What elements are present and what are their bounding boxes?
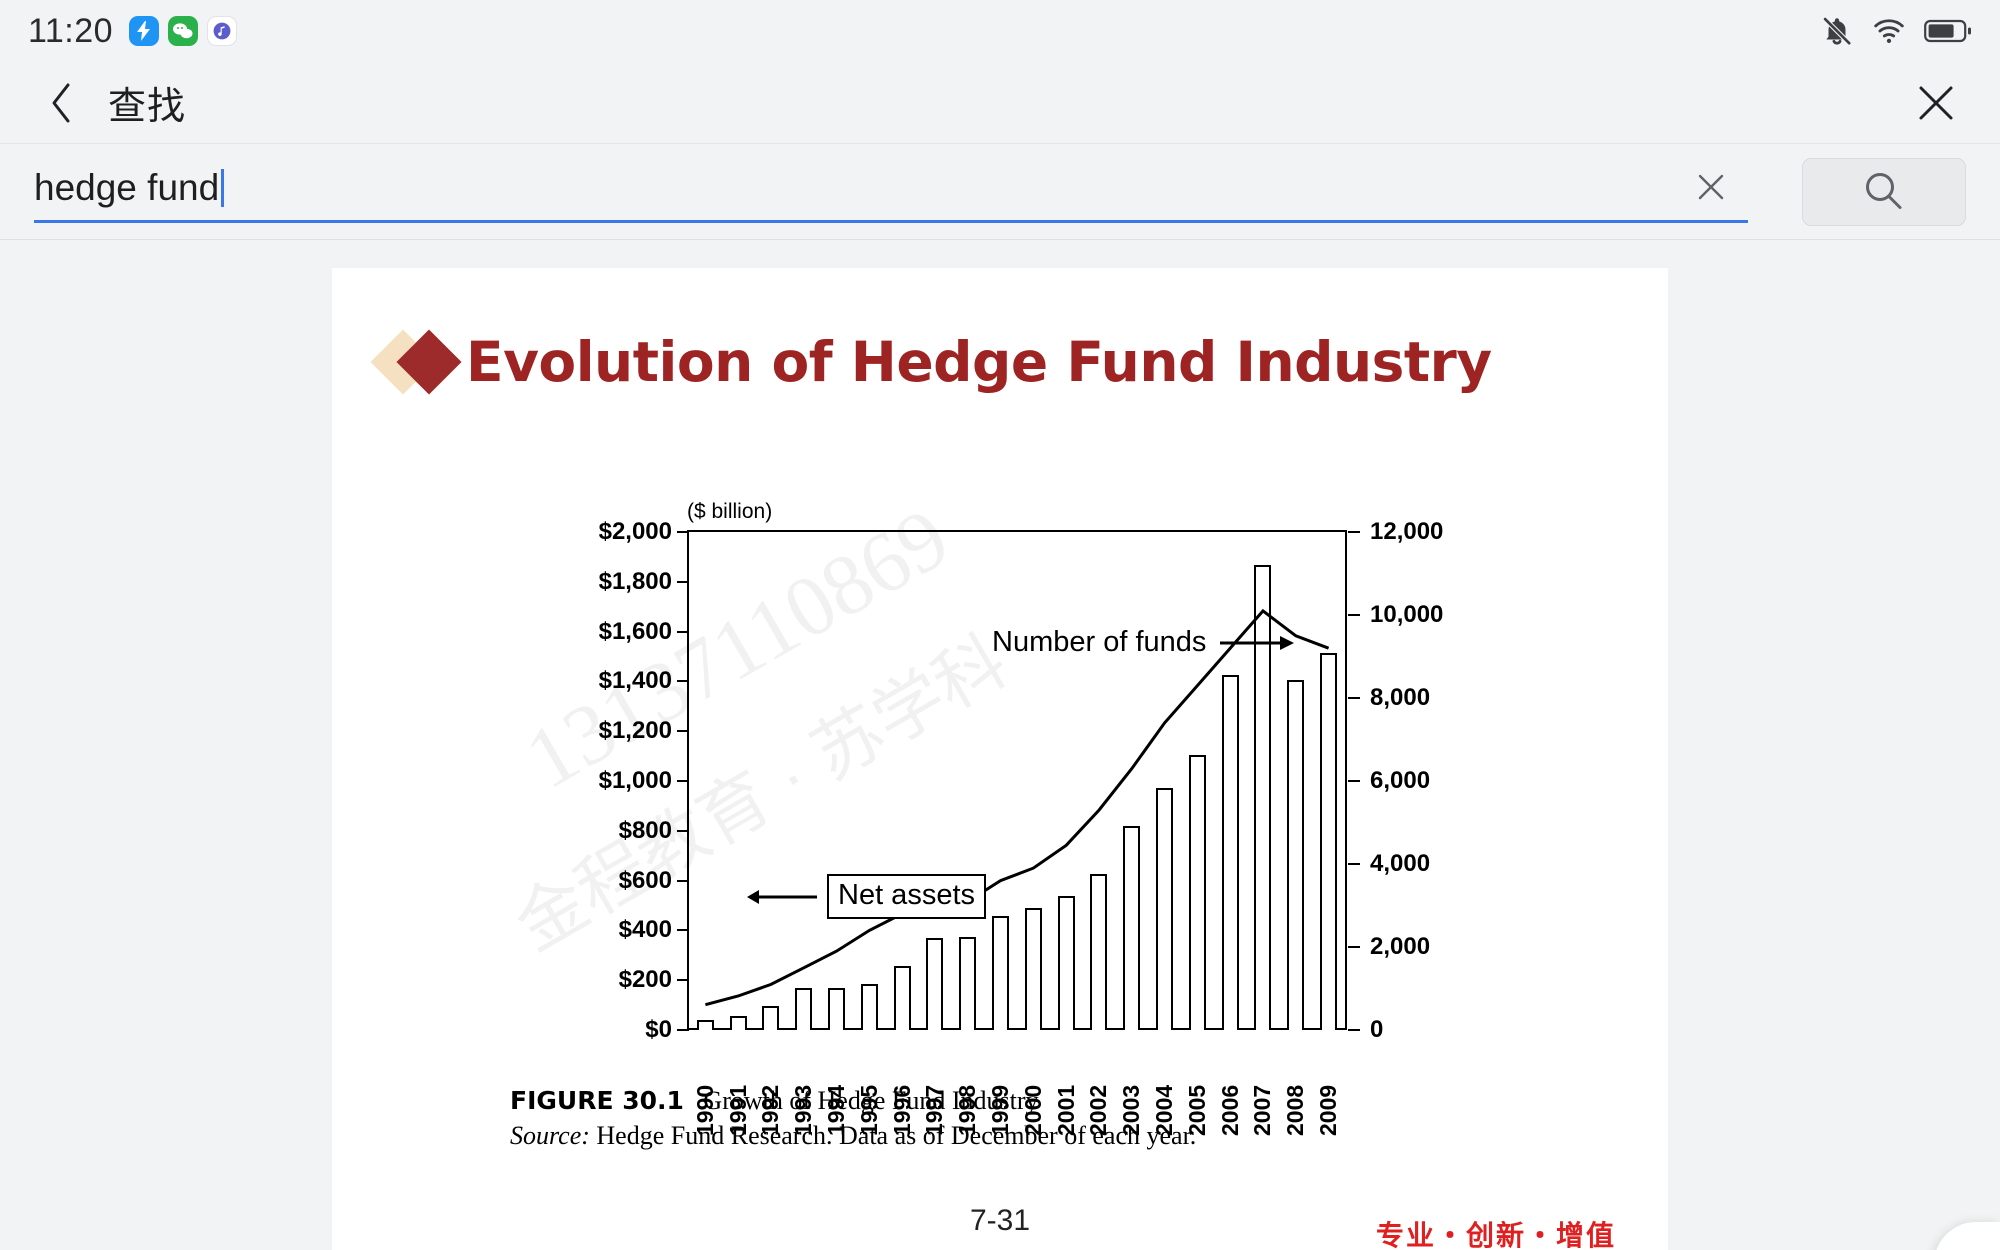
chart-bar-cell [820, 532, 853, 1030]
left-axis-tick-mark [677, 631, 689, 633]
arrow-right-icon [1220, 633, 1294, 653]
left-axis-tick-mark [677, 730, 689, 732]
slide-title: Evolution of Hedge Fund Industry [466, 330, 1492, 394]
chart-bar-cell [1214, 532, 1247, 1030]
chart-bar [1222, 675, 1239, 1030]
right-axis-tick-mark [1348, 863, 1360, 865]
chart-bar-cell [787, 532, 820, 1030]
figure-source-text: Hedge Fund Research. Data as of December… [590, 1121, 1196, 1150]
annotation-number-of-funds: Number of funds [992, 626, 1294, 659]
wifi-icon [1872, 14, 1906, 48]
flash-app-icon [129, 16, 159, 46]
left-axis-tick-mark [677, 531, 689, 533]
chart-bar-cell [1312, 532, 1345, 1030]
right-axis-tick-mark [1348, 780, 1360, 782]
left-axis-tick-label: $400 [482, 916, 672, 944]
bell-muted-icon [1820, 14, 1854, 48]
chart-bar-cell [1115, 532, 1148, 1030]
right-axis-tick-mark [1348, 1029, 1360, 1031]
left-axis-tick-label: $0 [482, 1016, 672, 1044]
x-axis-tick-label: 2008 [1282, 1036, 1309, 1136]
chart-bar [992, 916, 1009, 1030]
left-axis-tick-label: $1,400 [482, 667, 672, 695]
left-axis-tick-label: $600 [482, 867, 672, 895]
chart-bar [762, 1006, 779, 1030]
chart-bar [894, 966, 911, 1030]
right-axis-tick-label: 10,000 [1370, 601, 1443, 629]
left-axis-tick-label: $2,000 [482, 518, 672, 546]
chart-bar [1058, 896, 1075, 1030]
x-axis-tick-label: 2007 [1249, 1036, 1276, 1136]
chart-bar-cell [1083, 532, 1116, 1030]
chart-bar-cell [853, 532, 886, 1030]
music-app-icon [207, 16, 237, 46]
annotation-number-of-funds-label: Number of funds [992, 626, 1206, 659]
battery-icon [1924, 17, 1972, 45]
left-axis-tick-mark [677, 880, 689, 882]
chart-bar [1156, 788, 1173, 1030]
left-axis-tick-mark [677, 1029, 689, 1031]
status-app-icons [129, 16, 237, 46]
chart-bar [1025, 908, 1042, 1030]
right-axis-tick-mark [1348, 614, 1360, 616]
left-axis-tick-label: $1,000 [482, 767, 672, 795]
search-input[interactable]: hedge fund [34, 161, 1748, 223]
chart-unit-label: ($ billion) [687, 500, 772, 524]
search-bar: hedge fund [0, 144, 2000, 240]
chart-bar-cell [1148, 532, 1181, 1030]
diamond-bullet-icon [380, 331, 466, 393]
slide-page: Evolution of Hedge Fund Industry 1313711… [332, 268, 1668, 1250]
right-axis-tick-mark [1348, 531, 1360, 533]
app-header: 查找 [0, 62, 2000, 144]
chart-bar-cell [919, 532, 952, 1030]
right-axis-tick-label: 2,000 [1370, 933, 1430, 961]
right-axis-tick-label: 0 [1370, 1016, 1383, 1044]
close-icon[interactable] [1906, 73, 1966, 133]
left-axis-tick-label: $1,600 [482, 618, 672, 646]
chart-bar-cell [1247, 532, 1280, 1030]
arrow-left-icon [747, 887, 817, 907]
annotation-net-assets-label: Net assets [827, 874, 986, 919]
chart-bar [861, 984, 878, 1030]
chart-bar-cell [1279, 532, 1312, 1030]
left-axis-tick-label: $200 [482, 966, 672, 994]
right-axis-tick-mark [1348, 946, 1360, 948]
left-axis-tick-mark [677, 680, 689, 682]
right-axis-tick-label: 8,000 [1370, 684, 1430, 712]
chart-bar-cell [689, 532, 722, 1030]
x-axis-tick-cell: 2008 [1279, 1036, 1312, 1136]
left-axis-tick-mark [677, 581, 689, 583]
chart-bar-cell [755, 532, 788, 1030]
left-axis-tick-label: $1,800 [482, 568, 672, 596]
chart-bar-cell [984, 532, 1017, 1030]
chart-bar [926, 938, 943, 1030]
chart-bar-cell [1050, 532, 1083, 1030]
chart-bar [1189, 755, 1206, 1030]
left-axis-tick-mark [677, 979, 689, 981]
chart-bars [689, 532, 1345, 1030]
left-axis-tick-label: $1,200 [482, 717, 672, 745]
right-axis-tick-label: 12,000 [1370, 518, 1443, 546]
chart-bar [795, 988, 812, 1030]
chart-bar [959, 937, 976, 1030]
chart-bar [828, 988, 845, 1030]
text-caret [221, 169, 224, 207]
chart-bar-cell [951, 532, 984, 1030]
slide-slogan: 专业・创新・增值 [1376, 1214, 1616, 1250]
search-button[interactable] [1802, 158, 1966, 226]
figure-label: FIGURE 30.1 [510, 1086, 684, 1115]
figure-title: Growth of Hedge Fund Industry [703, 1086, 1038, 1115]
slide-title-row: Evolution of Hedge Fund Industry [332, 268, 1668, 394]
left-axis-tick-mark [677, 780, 689, 782]
back-button[interactable] [34, 76, 88, 130]
chart-bar [1320, 653, 1337, 1030]
chart-bar [1090, 874, 1107, 1030]
page-title: 查找 [108, 75, 186, 130]
status-bar: 11:20 [0, 0, 2000, 62]
clear-search-icon[interactable] [1688, 164, 1734, 210]
chart-bar [730, 1016, 747, 1030]
figure-caption: FIGURE 30.1 Growth of Hedge Fund Industr… [510, 1086, 1196, 1151]
x-axis-tick-cell: 2009 [1312, 1036, 1345, 1136]
figure-chart: ($ billion) $0$200$400$600$800$1,000$1,2… [482, 496, 1542, 1056]
x-axis-tick-label: 2006 [1217, 1036, 1244, 1136]
wechat-app-icon [168, 16, 198, 46]
status-clock: 11:20 [28, 12, 113, 51]
status-system-icons [1820, 14, 1972, 48]
right-axis-tick-label: 4,000 [1370, 850, 1430, 878]
left-axis-tick-mark [677, 830, 689, 832]
x-axis-tick-cell: 2006 [1214, 1036, 1247, 1136]
search-input-value: hedge fund [34, 169, 219, 212]
document-viewer[interactable]: Evolution of Hedge Fund Industry 1313711… [0, 240, 2000, 1250]
chart-bar [697, 1020, 714, 1030]
chart-bar-cell [1017, 532, 1050, 1030]
chart-bar-cell [722, 532, 755, 1030]
chart-bar-cell [886, 532, 919, 1030]
x-axis-tick-cell: 2007 [1247, 1036, 1280, 1136]
right-axis-tick-mark [1348, 697, 1360, 699]
right-axis-tick-label: 6,000 [1370, 767, 1430, 795]
chart-bar [1287, 680, 1304, 1030]
figure-source-label: Source: [510, 1121, 590, 1150]
chart-bar [1123, 826, 1140, 1030]
menu-button[interactable] [1934, 1222, 2000, 1250]
x-axis-tick-label: 2009 [1315, 1036, 1342, 1136]
chart-bar-cell [1181, 532, 1214, 1030]
annotation-net-assets: Net assets [747, 874, 986, 919]
left-axis-tick-label: $800 [482, 817, 672, 845]
left-axis-tick-mark [677, 929, 689, 931]
